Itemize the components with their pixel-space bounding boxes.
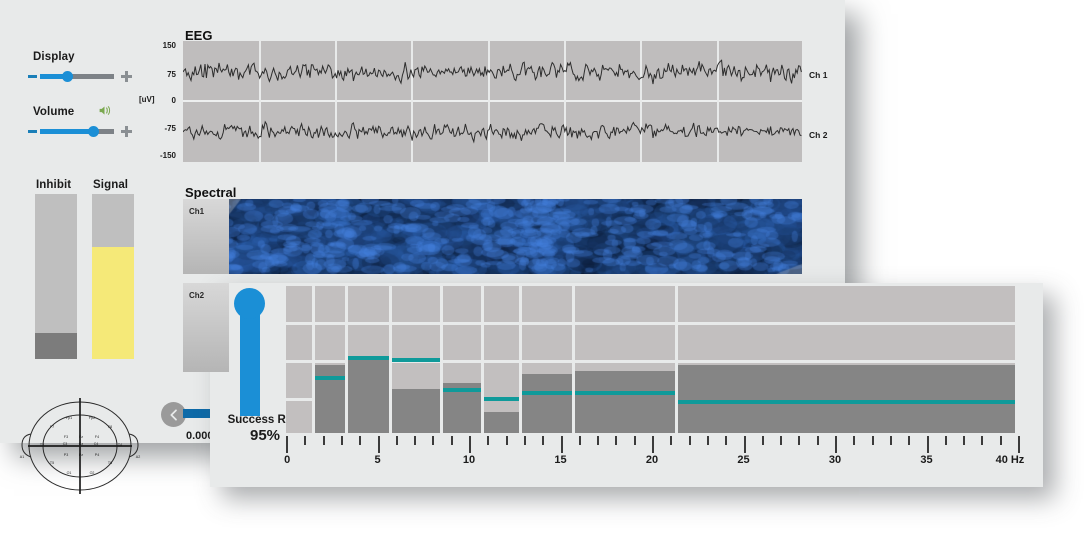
band-cell[interactable]: [315, 286, 345, 322]
band-column[interactable]: [575, 286, 674, 433]
band-column[interactable]: [315, 286, 345, 433]
axis-tick-label: 20: [646, 454, 658, 466]
speaker-icon[interactable]: [98, 104, 111, 117]
success-rate-handle[interactable]: [234, 288, 265, 319]
band-cell[interactable]: [348, 286, 389, 322]
axis-tick-minor: [506, 436, 508, 445]
spectral-waterfall-ch1[interactable]: Ch1: [183, 199, 802, 274]
axis-tick-minor: [487, 436, 489, 445]
band-column[interactable]: [443, 286, 480, 433]
inhibit-meter-fill: [35, 333, 77, 359]
axis-tick-minor: [597, 436, 599, 445]
signal-meter-fill: [92, 247, 134, 359]
band-cell[interactable]: [484, 363, 519, 398]
svg-text:F4: F4: [95, 435, 99, 439]
spectral-ch2-side: Ch2: [183, 283, 229, 372]
axis-tick-major: [378, 436, 380, 453]
eeg-y-tick: -75: [150, 124, 176, 133]
axis-tick-label: 30: [829, 454, 841, 466]
svg-text:A1: A1: [20, 455, 24, 459]
plus-icon[interactable]: [121, 71, 132, 82]
band-column[interactable]: [678, 286, 1015, 433]
band-column[interactable]: [348, 286, 389, 433]
band-threshold-marker[interactable]: [348, 356, 389, 360]
band-threshold-marker[interactable]: [678, 400, 1015, 404]
band-cell[interactable]: [286, 363, 312, 398]
band-cell[interactable]: [484, 286, 519, 322]
svg-text:Cz: Cz: [79, 442, 84, 446]
volume-slider-track[interactable]: [40, 129, 114, 134]
axis-tick-minor: [890, 436, 892, 445]
band-value-bar: [522, 374, 572, 433]
signal-label: Signal: [93, 179, 128, 191]
axis-tick-major: [927, 436, 929, 453]
axis-tick-minor: [615, 436, 617, 445]
frequency-band-grid[interactable]: [286, 286, 1018, 433]
axis-tick-major: [286, 436, 288, 453]
band-threshold-marker[interactable]: [443, 388, 480, 392]
axis-tick-major: [744, 436, 746, 453]
inhibit-meter: [35, 194, 77, 359]
axis-tick-minor: [451, 436, 453, 445]
success-rate-bar: [240, 308, 260, 416]
band-value-bar: [484, 412, 519, 433]
plus-icon[interactable]: [121, 126, 132, 137]
axis-tick-minor: [689, 436, 691, 445]
svg-text:Fz: Fz: [79, 435, 83, 439]
spectral-ch2-label: Ch2: [189, 291, 204, 300]
band-threshold-marker[interactable]: [484, 397, 519, 401]
display-slider-handle[interactable]: [62, 71, 73, 82]
band-cell[interactable]: [315, 325, 345, 360]
axis-tick-minor: [396, 436, 398, 445]
axis-tick-minor: [1000, 436, 1002, 445]
axis-tick-major: [835, 436, 837, 453]
axis-tick-minor: [725, 436, 727, 445]
svg-text:T4: T4: [118, 443, 122, 447]
axis-tick-minor: [670, 436, 672, 445]
axis-tick-major: [1018, 436, 1020, 453]
axis-tick-minor: [853, 436, 855, 445]
axis-tick-label: 15: [554, 454, 566, 466]
band-cell[interactable]: [678, 325, 1015, 360]
volume-slider[interactable]: [28, 123, 132, 139]
band-cell[interactable]: [678, 286, 1015, 322]
display-slider[interactable]: [28, 68, 132, 84]
axis-tick-minor: [963, 436, 965, 445]
band-value-bar: [392, 389, 440, 433]
axis-tick-minor: [323, 436, 325, 445]
svg-text:Pz: Pz: [79, 453, 83, 457]
axis-tick-minor: [707, 436, 709, 445]
axis-tick-label: 25: [737, 454, 749, 466]
eeg-y-tick: 150: [150, 41, 176, 50]
svg-text:T3: T3: [40, 443, 44, 447]
axis-tick-minor: [432, 436, 434, 445]
axis-tick-minor: [780, 436, 782, 445]
eeg-y-tick: -150: [150, 151, 176, 160]
band-cell[interactable]: [443, 286, 480, 322]
electrode-placement-diagram[interactable]: Fp1Fp2 F7F3 FzF4F8 T3C3 CzC4T4 T5P3 PzP4…: [15, 390, 145, 502]
volume-label: Volume: [33, 106, 74, 118]
band-cell[interactable]: [522, 325, 572, 360]
axis-tick-minor: [762, 436, 764, 445]
axis-tick-minor: [945, 436, 947, 445]
frequency-axis: 0510152025303540 Hz: [286, 436, 1018, 454]
spectral-panel-title: Spectral: [185, 185, 236, 200]
axis-tick-label: 40 Hz: [996, 454, 1025, 466]
eeg-channel-1-label: Ch 1: [809, 70, 827, 80]
axis-tick-label: 5: [374, 454, 380, 466]
axis-tick-minor: [579, 436, 581, 445]
band-column[interactable]: [286, 286, 312, 433]
band-column[interactable]: [392, 286, 440, 433]
volume-slider-fill: [40, 129, 93, 134]
svg-text:T5: T5: [50, 461, 54, 465]
axis-tick-minor: [524, 436, 526, 445]
band-column[interactable]: [484, 286, 519, 433]
band-cell[interactable]: [392, 286, 440, 322]
minus-icon[interactable]: [28, 75, 37, 78]
inhibit-label: Inhibit: [36, 179, 71, 191]
band-threshold-marker[interactable]: [392, 358, 440, 362]
svg-text:A2: A2: [136, 455, 140, 459]
band-cell[interactable]: [522, 286, 572, 322]
band-cell[interactable]: [575, 325, 674, 360]
svg-text:C3: C3: [63, 442, 68, 446]
axis-tick-minor: [817, 436, 819, 445]
svg-text:O1: O1: [67, 471, 72, 475]
axis-tick-minor: [359, 436, 361, 445]
svg-text:P3: P3: [64, 453, 68, 457]
chevron-left-icon: [166, 407, 182, 423]
spectral-ch1-label: Ch1: [189, 207, 204, 216]
band-cell[interactable]: [286, 401, 312, 433]
svg-text:Fp1: Fp1: [66, 416, 72, 420]
display-slider-track[interactable]: [40, 74, 114, 79]
axis-tick-label: 35: [920, 454, 932, 466]
band-cell[interactable]: [286, 286, 312, 322]
signal-meter: [92, 194, 134, 359]
band-cell[interactable]: [286, 325, 312, 360]
band-threshold-marker[interactable]: [315, 376, 345, 380]
axis-tick-label: 0: [284, 454, 290, 466]
band-cell[interactable]: [443, 325, 480, 360]
band-cell[interactable]: [575, 286, 674, 322]
svg-text:O2: O2: [90, 471, 95, 475]
band-cell[interactable]: [392, 325, 440, 360]
volume-slider-handle[interactable]: [88, 126, 99, 137]
axis-tick-minor: [872, 436, 874, 445]
axis-tick-minor: [341, 436, 343, 445]
eeg-y-tick: 75: [150, 70, 176, 79]
band-column[interactable]: [522, 286, 572, 433]
svg-text:F8: F8: [108, 425, 112, 429]
band-cell[interactable]: [484, 325, 519, 360]
minus-icon[interactable]: [28, 130, 37, 133]
axis-tick-minor: [981, 436, 983, 445]
axis-tick-minor: [908, 436, 910, 445]
axis-tick-minor: [414, 436, 416, 445]
band-threshold-marker[interactable]: [522, 391, 572, 395]
band-threshold-marker[interactable]: [575, 391, 674, 395]
svg-text:Fp2: Fp2: [89, 416, 95, 420]
axis-tick-minor: [304, 436, 306, 445]
eeg-waveform-plot[interactable]: [183, 41, 802, 162]
eeg-channel-2-label: Ch 2: [809, 130, 827, 140]
band-value-bar: [575, 371, 674, 433]
svg-text:F3: F3: [64, 435, 68, 439]
svg-text:T6: T6: [108, 461, 112, 465]
svg-text:P4: P4: [95, 453, 99, 457]
axis-tick-minor: [798, 436, 800, 445]
eeg-unit-label: [uV]: [139, 95, 155, 104]
svg-text:C4: C4: [94, 442, 99, 446]
axis-tick-minor: [634, 436, 636, 445]
spectral-ch1-side: Ch1: [183, 199, 229, 274]
axis-tick-major: [652, 436, 654, 453]
svg-text:F7: F7: [50, 425, 54, 429]
band-value-bar: [348, 357, 389, 433]
axis-tick-label: 10: [463, 454, 475, 466]
axis-tick-major: [561, 436, 563, 453]
axis-tick-major: [469, 436, 471, 453]
axis-tick-minor: [542, 436, 544, 445]
display-label: Display: [33, 51, 75, 63]
